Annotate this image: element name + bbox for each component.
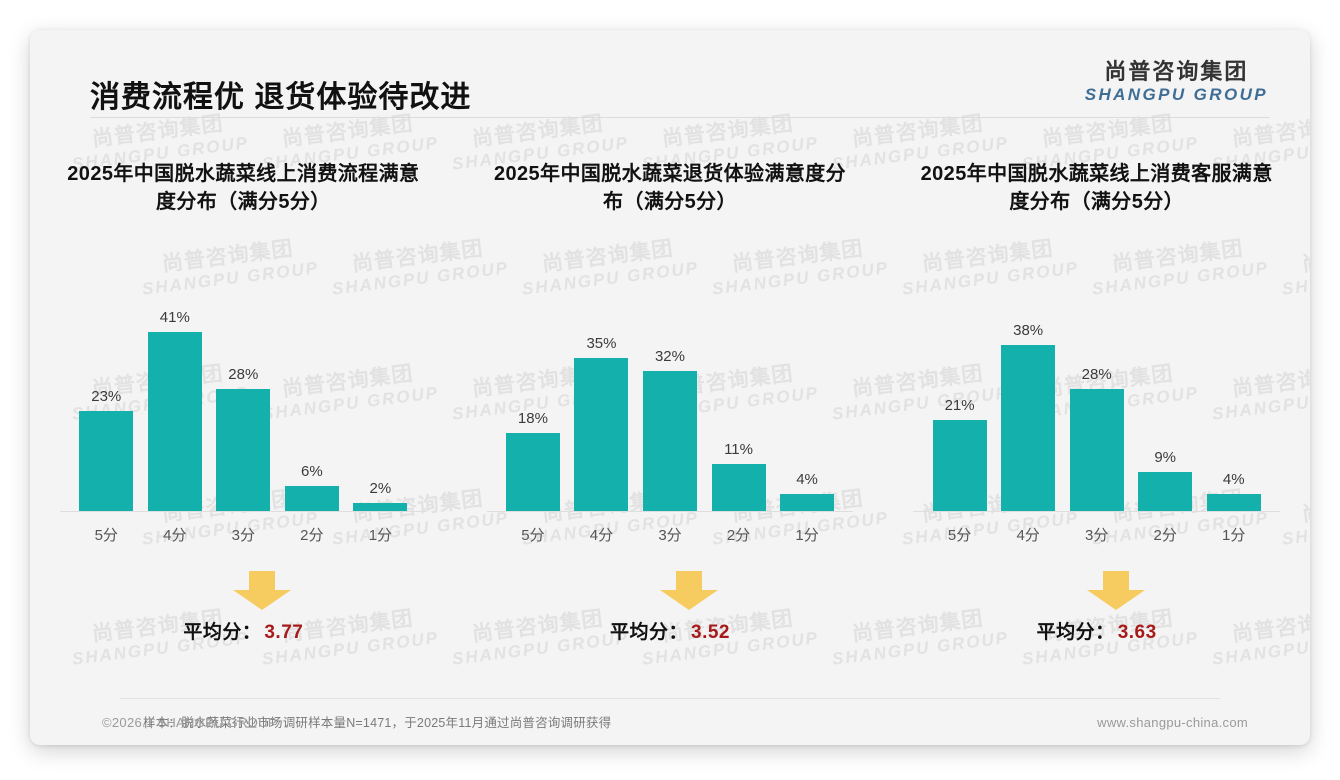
page-title: 消费流程优 退货体验待改进 [90, 72, 471, 116]
chart-panel-1: 2025年中国脱水蔬菜线上消费流程满意度分布（满分5分）23%41%28%6%2… [30, 160, 457, 680]
x-axis-tick-label: 1分 [1203, 524, 1265, 545]
average-score-text: 平均分：3.77 [44, 617, 443, 644]
x-axis-tick-label: 3分 [639, 524, 701, 545]
bar[interactable] [1070, 389, 1124, 512]
x-axis-line [487, 511, 854, 512]
slide-header: 消费流程优 退货体验待改进 尚普咨询集团 SHANGPU GROUP [30, 30, 1310, 118]
x-axis-labels: 5分4分3分2分1分 [925, 512, 1268, 545]
bar[interactable] [712, 464, 766, 512]
bar-value-label: 21% [945, 397, 975, 414]
bar-value-label: 9% [1154, 449, 1176, 466]
bar-value-label: 38% [1013, 322, 1043, 339]
arrow-down-icon [658, 571, 720, 611]
bar-value-label: 4% [796, 471, 818, 488]
arrow-down-icon [231, 571, 293, 611]
x-axis-line [60, 511, 427, 512]
plot-area: 21%38%28%9%4% [925, 262, 1268, 512]
header-divider [90, 117, 1270, 118]
bar-slot[interactable]: 21% [929, 282, 991, 512]
bar-slot[interactable]: 23% [75, 282, 137, 512]
bar[interactable] [574, 358, 628, 512]
bar-value-label: 35% [586, 335, 616, 352]
x-axis-labels: 5分4分3分2分1分 [72, 512, 415, 545]
average-score-label: 平均分： [183, 622, 261, 643]
x-axis-tick-label: 5分 [929, 524, 991, 545]
bar-slot[interactable]: 32% [639, 282, 701, 512]
x-axis-tick-label: 2分 [281, 524, 343, 545]
bar-value-label: 32% [655, 348, 685, 365]
x-axis-tick-label: 3分 [212, 524, 274, 545]
average-score-label: 平均分： [1037, 622, 1115, 643]
bar-slot[interactable]: 4% [1203, 282, 1265, 512]
bar[interactable] [1207, 494, 1261, 512]
x-axis-line [913, 511, 1280, 512]
bar-slot[interactable]: 41% [144, 282, 206, 512]
bar[interactable] [506, 433, 560, 512]
chart-panel-3: 2025年中国脱水蔬菜线上消费客服满意度分布（满分5分）21%38%28%9%4… [883, 160, 1310, 680]
bar[interactable] [1138, 472, 1192, 512]
average-score-text: 平均分：3.63 [897, 617, 1296, 644]
bar-value-label: 28% [228, 366, 258, 383]
chart-title: 2025年中国脱水蔬菜退货体验满意度分布（满分5分） [471, 160, 870, 222]
bar-value-label: 18% [518, 410, 548, 427]
bar-series: 23%41%28%6%2% [72, 282, 415, 512]
x-axis-tick-label: 3分 [1066, 524, 1128, 545]
brand-logo-cn: 尚普咨询集团 [1085, 60, 1268, 84]
plot-area: 23%41%28%6%2% [72, 262, 415, 512]
bar-value-label: 11% [724, 441, 753, 458]
footnote-divider [120, 698, 1220, 699]
x-axis-tick-label: 2分 [708, 524, 770, 545]
bar-slot[interactable]: 9% [1134, 282, 1196, 512]
bar-slot[interactable]: 6% [281, 282, 343, 512]
slide-footer: ©2026.1 SHANGPU GROUP www.shangpu-china.… [30, 705, 1310, 745]
brand-logo: 尚普咨询集团 SHANGPU GROUP [1085, 60, 1268, 106]
bar-value-label: 28% [1082, 366, 1112, 383]
bar-slot[interactable]: 28% [1066, 282, 1128, 512]
bar[interactable] [780, 494, 834, 512]
chart-title: 2025年中国脱水蔬菜线上消费流程满意度分布（满分5分） [44, 160, 443, 222]
bar[interactable] [79, 411, 133, 512]
bar-value-label: 2% [370, 480, 392, 497]
x-axis-tick-label: 5分 [75, 524, 137, 545]
charts-row: 2025年中国脱水蔬菜线上消费流程满意度分布（满分5分）23%41%28%6%2… [30, 160, 1310, 680]
average-score-text: 平均分：3.52 [471, 617, 870, 644]
chart-panel-2: 2025年中国脱水蔬菜退货体验满意度分布（满分5分）18%35%32%11%4%… [457, 160, 884, 680]
average-score-block: 平均分：3.77 [44, 571, 443, 657]
x-axis-tick-label: 4分 [571, 524, 633, 545]
bar-value-label: 6% [301, 463, 323, 480]
average-score-label: 平均分： [610, 622, 688, 643]
slide-card: 尚普咨询集团SHANGPU GROUP尚普咨询集团SHANGPU GROUP尚普… [30, 30, 1310, 745]
x-axis-tick-label: 4分 [144, 524, 206, 545]
bar-value-label: 23% [91, 388, 121, 405]
arrow-down-icon [1085, 571, 1147, 611]
bar-value-label: 4% [1223, 471, 1245, 488]
average-score-value: 3.63 [1118, 622, 1157, 643]
x-axis-tick-label: 1分 [776, 524, 838, 545]
chart-title: 2025年中国脱水蔬菜线上消费客服满意度分布（满分5分） [897, 160, 1296, 222]
bar[interactable] [216, 389, 270, 512]
x-axis-labels: 5分4分3分2分1分 [499, 512, 842, 545]
bar-series: 21%38%28%9%4% [925, 282, 1268, 512]
average-score-block: 平均分：3.52 [471, 571, 870, 657]
bar[interactable] [148, 332, 202, 512]
average-score-value: 3.52 [691, 622, 730, 643]
footer-copyright: ©2026.1 SHANGPU GROUP [102, 715, 277, 730]
brand-logo-en: SHANGPU GROUP [1085, 85, 1268, 105]
bar[interactable] [643, 371, 697, 512]
x-axis-tick-label: 5分 [502, 524, 564, 545]
x-axis-tick-label: 2分 [1134, 524, 1196, 545]
bar-slot[interactable]: 11% [708, 282, 770, 512]
footer-website: www.shangpu-china.com [1097, 715, 1248, 730]
bar-slot[interactable]: 28% [212, 282, 274, 512]
average-score-value: 3.77 [264, 622, 303, 643]
bar[interactable] [1001, 345, 1055, 512]
average-score-block: 平均分：3.63 [897, 571, 1296, 657]
bar-series: 18%35%32%11%4% [499, 282, 842, 512]
bar-slot[interactable]: 38% [997, 282, 1059, 512]
bar-slot[interactable]: 2% [350, 282, 412, 512]
bar[interactable] [285, 486, 339, 512]
plot-area: 18%35%32%11%4% [499, 262, 842, 512]
bar-slot[interactable]: 18% [502, 282, 564, 512]
bar-slot[interactable]: 35% [571, 282, 633, 512]
bar-value-label: 41% [160, 309, 190, 326]
x-axis-tick-label: 4分 [997, 524, 1059, 545]
bar-slot[interactable]: 4% [776, 282, 838, 512]
x-axis-tick-label: 1分 [350, 524, 412, 545]
bar[interactable] [933, 420, 987, 512]
